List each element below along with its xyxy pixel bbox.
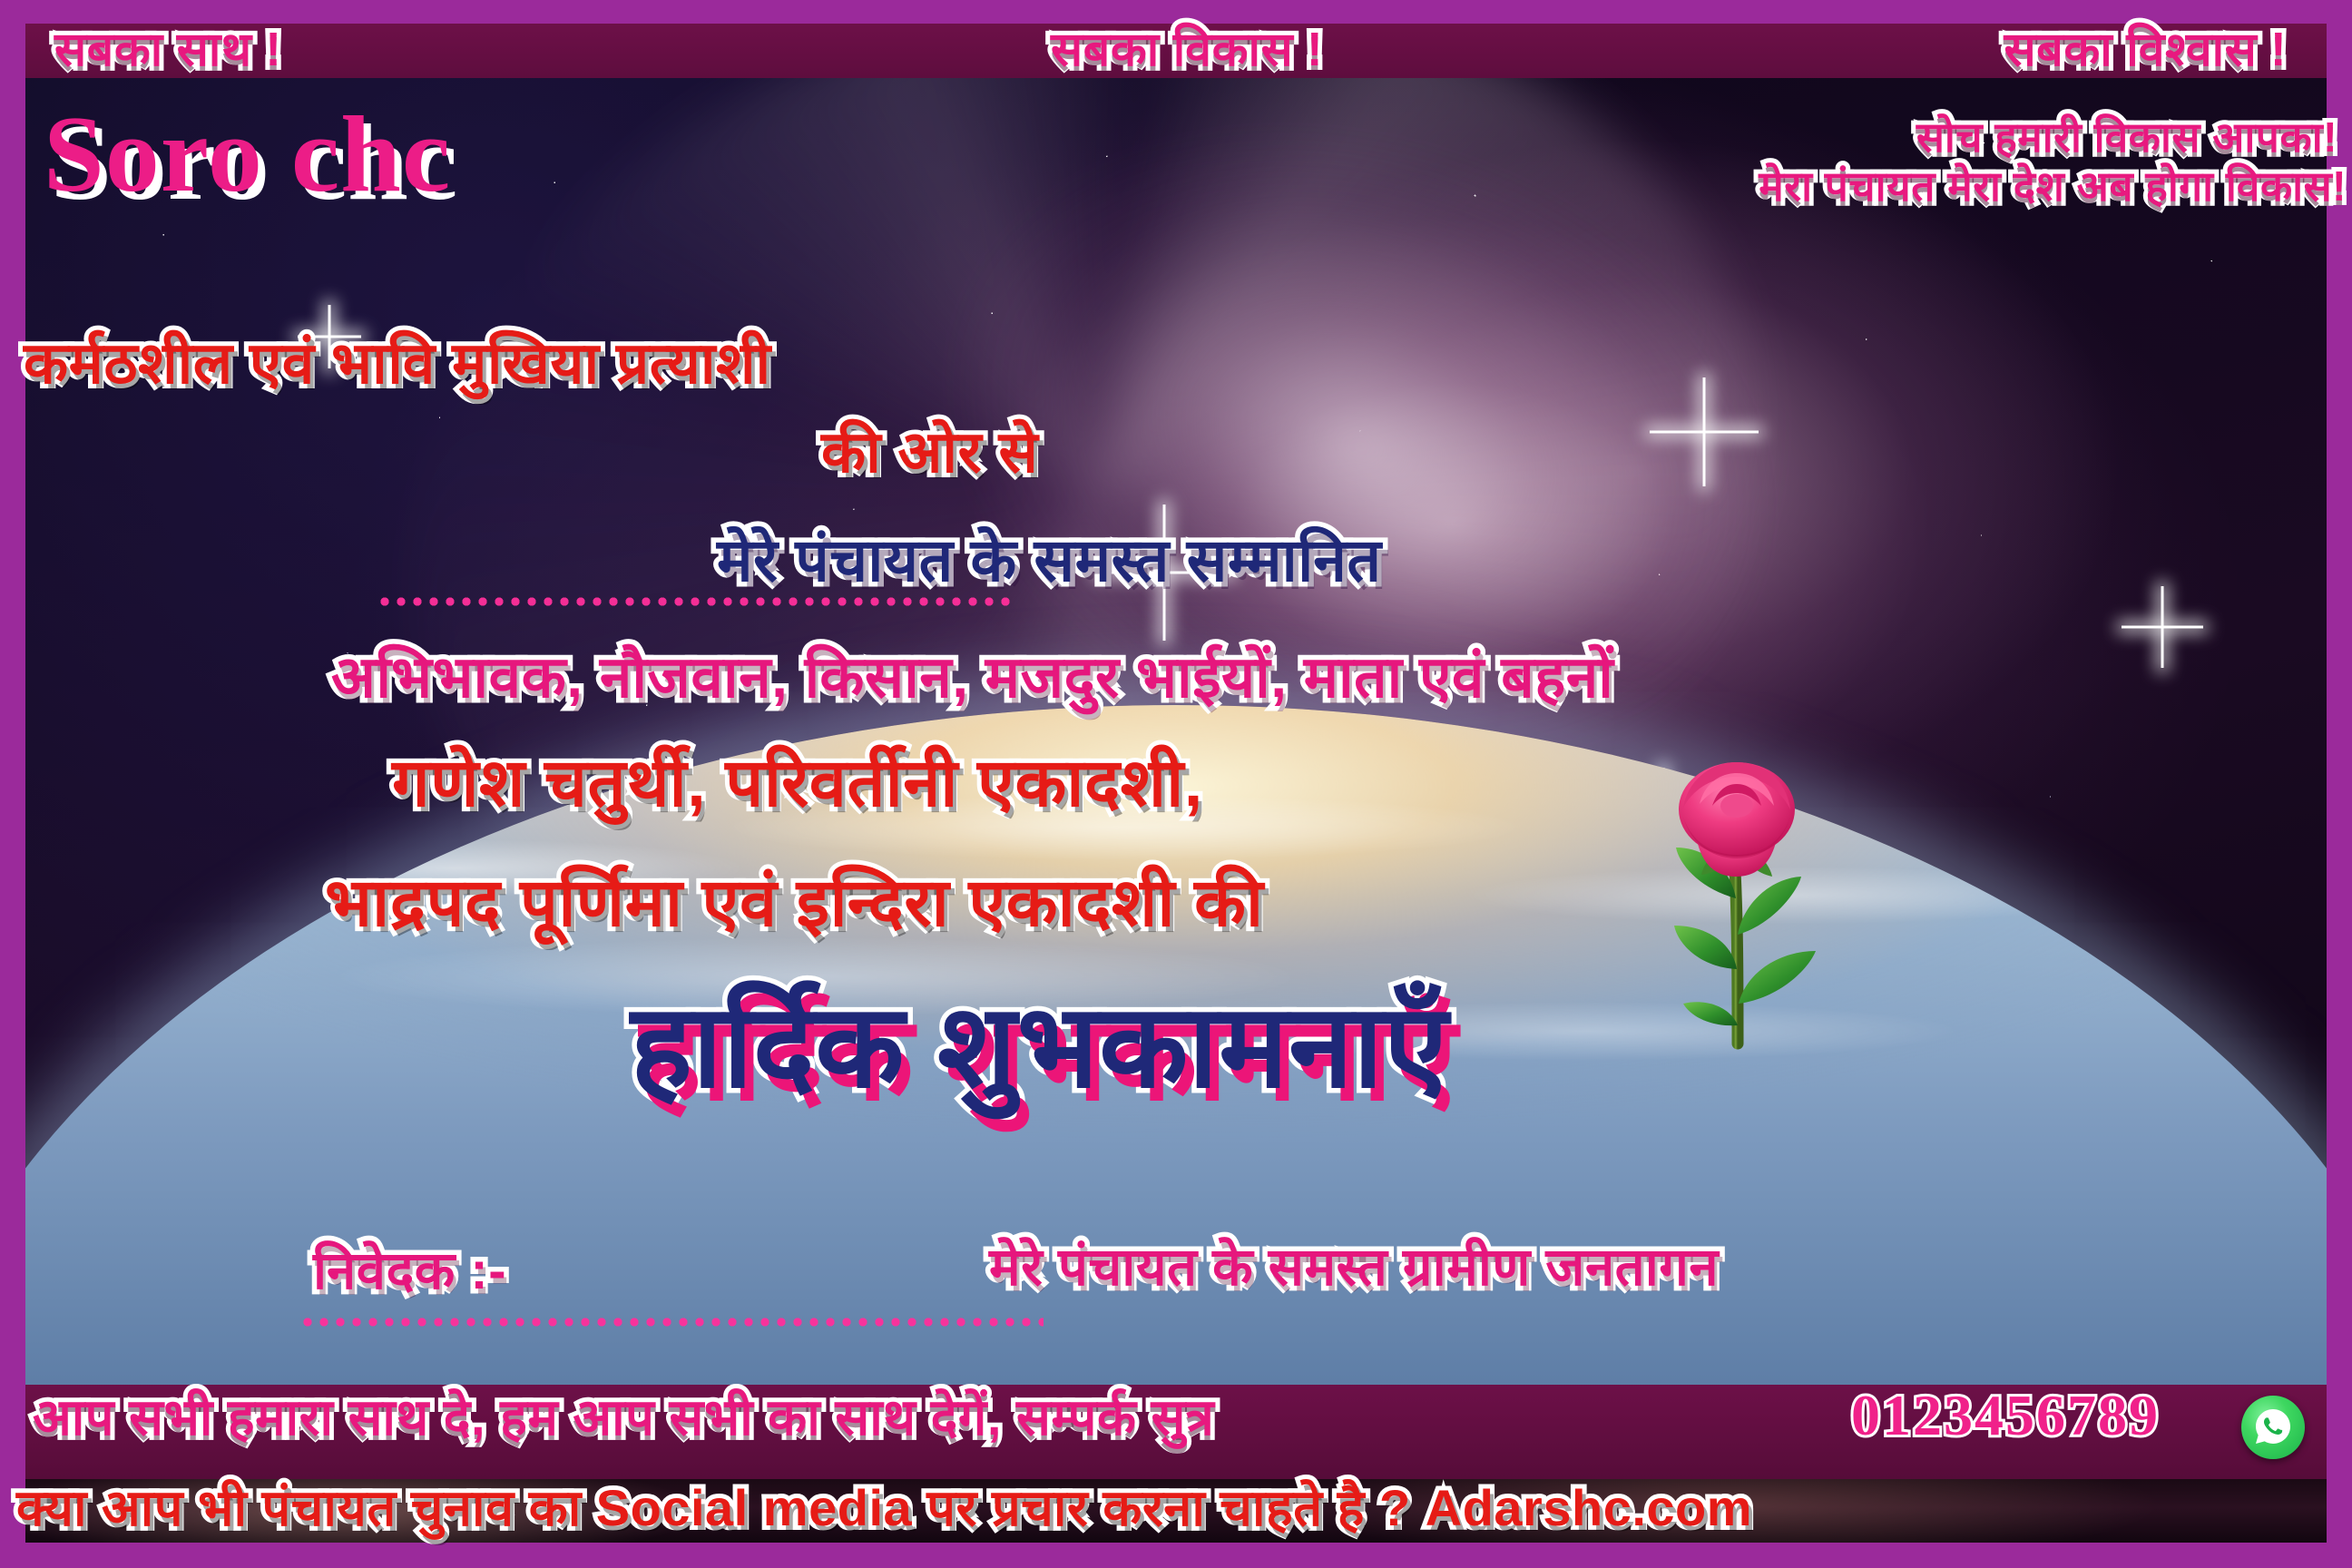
panchayat-line: मेरे पंचायत के समस्त सम्मानित: [717, 530, 1382, 590]
whatsapp-icon[interactable]: [2241, 1396, 2305, 1459]
people-line: अभिभावक, नौजवान, किसान, मजदुर भाईयों, मा…: [331, 648, 1613, 706]
tagline-line-1: सोच हमारी विकास आपका!: [1916, 116, 2337, 158]
dotted-divider: [299, 1318, 1044, 1327]
from-line: की ओर से: [821, 423, 1038, 481]
slogan-sabka-vikas: सबका विकास !: [1051, 26, 1323, 73]
election-greeting-poster: सबका साथ ! सबका विकास ! सबका विश्वास ! S…: [0, 0, 2352, 1568]
tagline-line-2: मेरा पंचायत मेरा देश अब होगा विकास!: [1759, 165, 2347, 207]
top-slogan-band: सबका साथ ! सबका विकास ! सबका विश्वास !: [25, 24, 2327, 78]
slogan-sabka-saath: सबका साथ !: [54, 26, 281, 73]
rose-flower-icon: [1647, 753, 1919, 1053]
candidate-line: कर्मठशील एवं भावि मुखिया प्रत्याशी: [24, 334, 771, 392]
slogan-sabka-vishwas: सबका विश्वास !: [2004, 26, 2287, 73]
greeting-line: हार्दिक शुभकामनाएँ: [631, 989, 1448, 1105]
signature-label: निवेदक :-: [313, 1245, 506, 1298]
footer-support-line: आप सभी हमारा साथ दे, हम आप सभी का साथ दे…: [33, 1392, 1214, 1443]
galaxy-background-stage: [25, 78, 2327, 1385]
footer-promo-line: क्या आप भी पंचायत चुनाव का Social media …: [16, 1483, 1752, 1534]
festivals-line-1: गणेश चतुर्थी, परिवर्तीनी एकादशी,: [392, 750, 1203, 817]
page-title: Soro chc: [44, 100, 451, 209]
dotted-divider: [377, 597, 1012, 606]
signature-value: मेरे पंचायत के समस्त ग्रामीण जनतागन: [989, 1241, 1719, 1294]
festivals-line-2: भाद्रपद पूर्णिमा एवं इन्दिरा एकादशी की: [325, 869, 1264, 936]
contact-phone-number[interactable]: 0123456789: [1851, 1387, 2160, 1445]
